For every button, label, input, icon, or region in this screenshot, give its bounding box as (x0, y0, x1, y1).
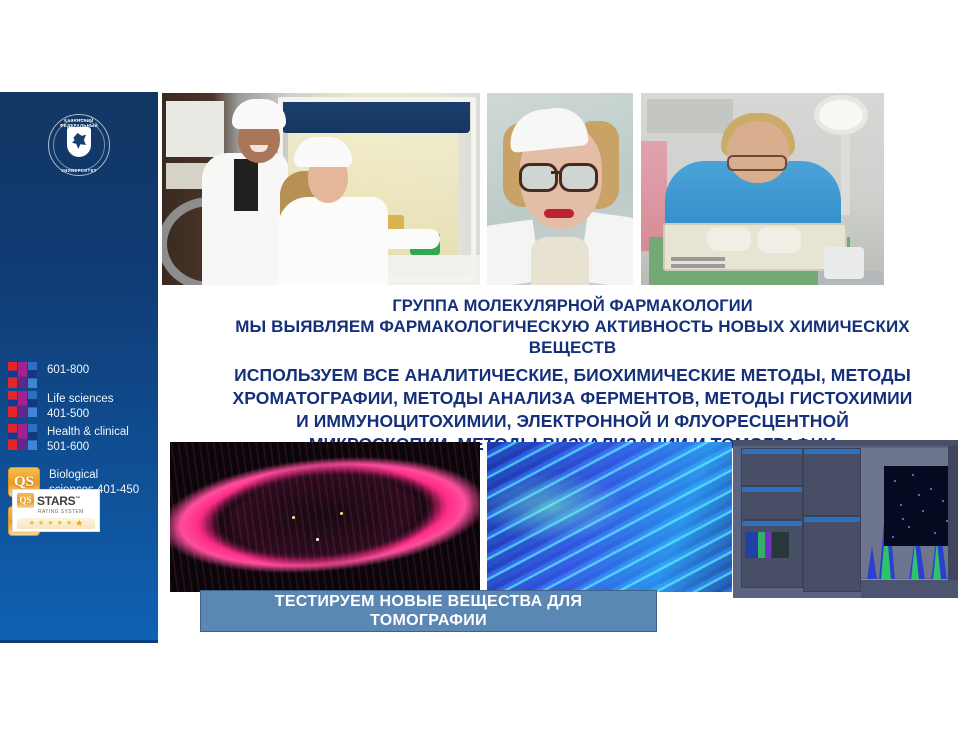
heading: ГРУППА МОЛЕКУЛЯРНОЙ ФАРМАКОЛОГИИ (170, 296, 975, 316)
the-logo-icon (8, 391, 38, 417)
text-block: ГРУППА МОЛЕКУЛЯРНОЙ ФАРМАКОЛОГИИ МЫ ВЫЯВ… (170, 296, 975, 456)
emblem-arc-bottom: УНИВЕРСИТЕТ (48, 168, 110, 173)
photo-portrait (487, 93, 633, 285)
bottom-banner: ТЕСТИРУЕМ НОВЫЕ ВЕЩЕСТВА ДЛЯ ТОМОГРАФИИ (200, 590, 657, 632)
software-screenshot (733, 440, 958, 598)
university-emblem-icon: КАЗАНСКИЙ ФЕДЕРАЛЬНЫЙ УНИВЕРСИТЕТ (48, 114, 110, 176)
subheading-line2: ВЕЩЕСТВ (170, 337, 975, 358)
star-icon: ★ (75, 520, 83, 527)
emblem-arc-top: КАЗАНСКИЙ ФЕДЕРАЛЬНЫЙ (48, 118, 110, 128)
sidebar: КАЗАНСКИЙ ФЕДЕРАЛЬНЫЙ УНИВЕРСИТЕТ 601-80… (0, 92, 158, 643)
ranking-row: Life sciences 401-500 (8, 391, 156, 421)
ranking-row: 601-800 (8, 362, 156, 388)
qs-stars-badge: QS STARS™ RATING SYSTEM ★ ★ ★ ★ ★ ★ (12, 489, 100, 532)
ranking-line: 501-600 (47, 440, 129, 455)
subheading-line1: МЫ ВЫЯВЛЯЕМ ФАРМАКОЛОГИЧЕСКУЮ АКТИВНОСТЬ… (170, 316, 975, 337)
ranking-line: Biological (49, 468, 139, 483)
star-icon: ★ (38, 520, 44, 527)
micrograph-pink (170, 442, 480, 592)
the-logo-icon (8, 362, 38, 388)
ranking-line: Life sciences (47, 392, 113, 407)
star-icon: ★ (57, 520, 63, 527)
body-line2: ХРОМАТОГРАФИИ, МЕТОДЫ АНАЛИЗА ФЕРМЕНТОВ,… (170, 387, 975, 410)
qs-stars-rating: ★ ★ ★ ★ ★ ★ (17, 518, 95, 529)
banner-line2: ТОМОГРАФИИ (370, 611, 487, 630)
body-line3: И ИММУНОЦИТОХИМИИ, ЭЛЕКТРОННОЙ И ФЛУОРЕС… (170, 410, 975, 433)
ranking-line: 601-800 (47, 363, 89, 378)
qs-stars-mark: QS (17, 493, 34, 508)
body-line1: ИСПОЛЬЗУЕМ ВСЕ АНАЛИТИЧЕСКИЕ, БИОХИМИЧЕС… (170, 364, 975, 387)
ranking-row: Health & clinical 501-600 (8, 424, 156, 454)
micrograph-blue (487, 442, 732, 592)
star-icon: ★ (29, 520, 35, 527)
star-icon: ★ (66, 520, 72, 527)
ranking-line: Health & clinical (47, 425, 129, 440)
qs-stars-subtitle: RATING SYSTEM (38, 509, 95, 515)
qs-stars-word: STARS (37, 494, 75, 508)
star-icon: ★ (47, 520, 53, 527)
photo-lab-team (162, 93, 480, 285)
banner-line1: ТЕСТИРУЕМ НОВЫЕ ВЕЩЕСТВА ДЛЯ (275, 592, 583, 611)
cell-image-panel (884, 466, 956, 546)
the-logo-icon (8, 424, 38, 450)
ranking-line: 401-500 (47, 407, 113, 422)
qs-stars-trademark: ™ (75, 496, 80, 502)
photo-dissection (641, 93, 884, 285)
